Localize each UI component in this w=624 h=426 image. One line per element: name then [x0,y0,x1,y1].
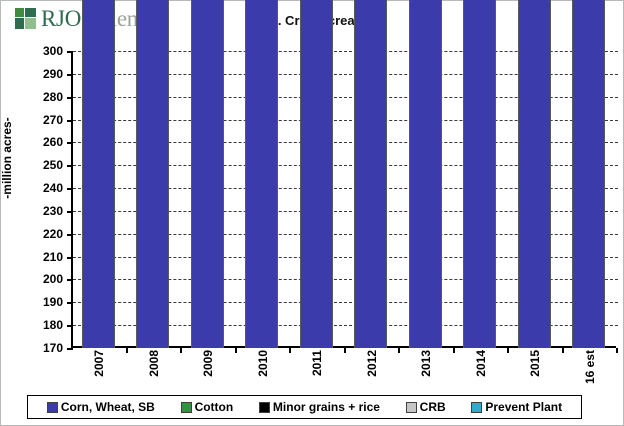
x-axis-ticklabel: 2008 [147,350,161,377]
x-axis-ticklabel: 2014 [474,350,488,377]
x-axis-tickmark [344,348,346,353]
y-axis-ticklabel: 230 [1,204,63,218]
bar-stack-16-est[interactable] [572,0,605,348]
y-axis-ticklabel: 220 [1,227,63,241]
x-axis-tickmark [562,348,564,353]
bar-stack-2013[interactable] [409,0,442,348]
x-axis-tickmark [398,348,400,353]
bar-stack-2010[interactable] [245,0,278,348]
bar-segment-corn-wheat-sb [136,0,169,348]
bar-segment-corn-wheat-sb [82,0,115,348]
legend-swatch-icon [181,402,192,413]
chart-legend: Corn, Wheat, SBCottonMinor grains + rice… [27,395,582,419]
legend-item-crb[interactable]: CRB [406,400,446,414]
bar-stack-2014[interactable] [463,0,496,348]
x-axis-tickmark [180,348,182,353]
bar-segment-corn-wheat-sb [518,0,551,348]
bar-segment-corn-wheat-sb [300,0,333,348]
x-axis-ticklabel: 2012 [365,350,379,377]
legend-label: Cotton [195,400,234,414]
y-axis-ticklabel: 210 [1,250,63,264]
y-axis-ticklabel: 270 [1,113,63,127]
bar-stack-2011[interactable] [300,0,333,348]
x-axis-tickmark [289,348,291,353]
legend-item-prevent-plant[interactable]: Prevent Plant [471,400,562,414]
bar-stack-2007[interactable] [82,0,115,348]
legend-swatch-icon [259,402,270,413]
y-axis-ticklabel: 240 [1,181,63,195]
x-axis-ticklabel: 2011 [310,350,324,376]
x-axis-tickmark [616,348,618,353]
bars-layer [71,51,616,348]
bar-stack-2008[interactable] [136,0,169,348]
x-axis-tickmark [453,348,455,353]
bar-segment-corn-wheat-sb [409,0,442,348]
legend-label: Corn, Wheat, SB [61,400,155,414]
x-axis-tickmark [235,348,237,353]
bar-stack-2009[interactable] [191,0,224,348]
x-axis-ticklabel: 2009 [201,350,215,377]
legend-label: Prevent Plant [485,400,562,414]
bar-segment-corn-wheat-sb [245,0,278,348]
y-axis-ticklabel: 250 [1,158,63,172]
x-axis-ticklabel: 2013 [419,350,433,377]
bar-stack-2015[interactable] [518,0,551,348]
y-axis-ticklabel: 190 [1,295,63,309]
x-axis-ticklabel: 2007 [92,350,106,377]
legend-swatch-icon [406,402,417,413]
y-axis-ticklabel: 260 [1,135,63,149]
y-axis-ticklabels: 1701801902002102202302402502602702802903… [1,51,63,348]
x-axis-ticklabel: 2010 [256,350,270,377]
legend-item-cotton[interactable]: Cotton [181,400,234,414]
x-axis-ticklabel: 16 est [583,350,597,384]
bar-stack-2012[interactable] [354,0,387,348]
y-axis-ticklabel: 180 [1,318,63,332]
x-axis-tickmark [126,348,128,353]
legend-label: Minor grains + rice [273,400,380,414]
y-axis-ticklabel: 170 [1,341,63,355]
legend-swatch-icon [471,402,482,413]
x-axis-tickmark [507,348,509,353]
y-axis-ticklabel: 200 [1,272,63,286]
bar-segment-corn-wheat-sb [572,0,605,348]
chart-container: RJO’Brien U.S. Crop Acreage -million acr… [0,0,624,426]
bar-segment-corn-wheat-sb [354,0,387,348]
y-axis-ticklabel: 290 [1,67,63,81]
x-axis-ticklabel: 2015 [528,350,542,377]
bar-segment-corn-wheat-sb [191,0,224,348]
legend-label: CRB [420,400,446,414]
legend-item-corn-wheat-sb[interactable]: Corn, Wheat, SB [47,400,155,414]
y-axis-ticklabel: 280 [1,90,63,104]
legend-item-minor-grains-rice[interactable]: Minor grains + rice [259,400,380,414]
bar-segment-corn-wheat-sb [463,0,496,348]
legend-swatch-icon [47,402,58,413]
y-axis-ticklabel: 300 [1,44,63,58]
x-axis-ticklabels: 20072008200920102011201220132014201516 e… [71,348,616,396]
